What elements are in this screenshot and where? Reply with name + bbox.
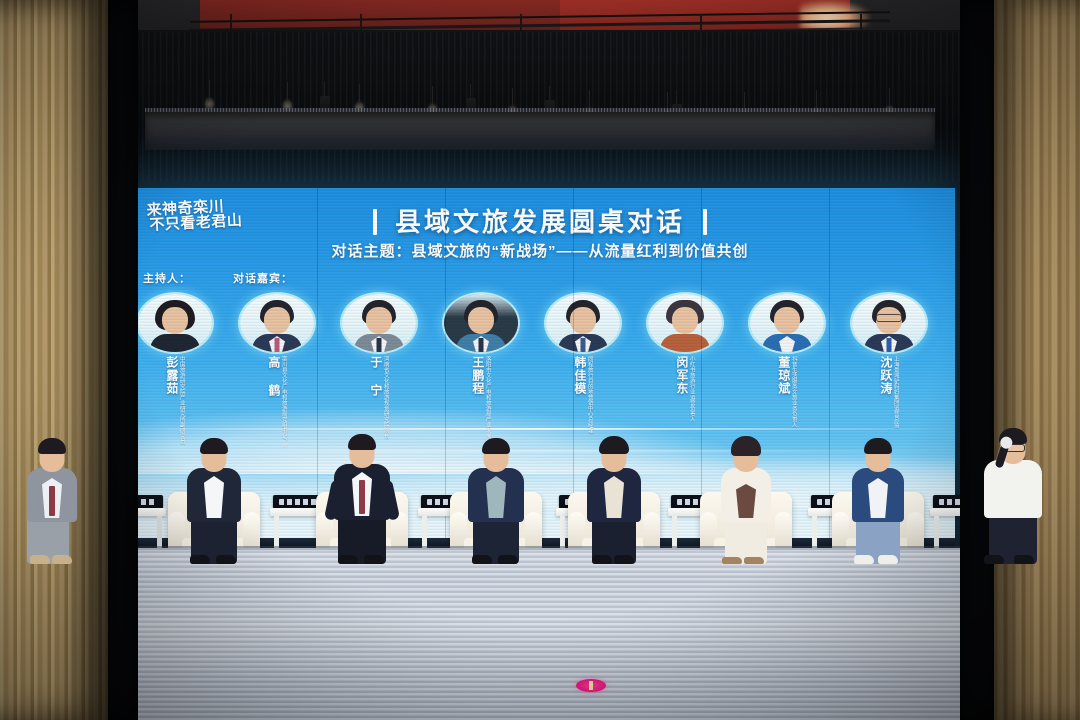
panelist-shoe [878,555,898,564]
speaker-card-5: 韩佳模同程旅行目的地营销中心总经理 [541,294,625,448]
speaker-card-4: 王鹏程洛阳市文化广电和旅游局产业发展科科长 [439,294,523,448]
avatar-tie [377,338,382,352]
speaker-title: 抖音生活服务文旅业务负责人 [790,356,797,428]
speaker-card-2: 高 鹤栾川县文化广电和旅游局党组书记、局长 [235,294,319,448]
panelist-tie [359,480,365,514]
avatar-tie [887,338,892,352]
panelist-hair [348,434,376,450]
avatar [138,294,212,352]
panelist-shoe [744,557,764,564]
panelist-shoe [52,555,72,564]
panelist-shoe [854,555,874,564]
panelist [330,452,394,564]
avatar-face [366,307,392,334]
panelist [182,456,246,564]
led-panel-seam [829,188,830,548]
avatar-tie [581,338,586,352]
stage-drape-left [104,0,138,720]
speaker-name: 沈跃涛 [879,356,892,395]
avatar-face [774,307,800,334]
avatar-face [672,307,698,334]
avatar [546,294,620,352]
avatar [240,294,314,352]
panelist-shirt [486,476,506,518]
speaker-title: 小红书旅游行业运营负责人 [688,356,695,422]
speaker-name: 韩佳模 [573,356,586,395]
page-title: 县域文旅发展圆桌对话 [395,202,685,239]
guest-label: 对话嘉宾： [233,270,293,286]
panelist-hair [200,438,228,454]
backdrop-pleats [100,32,980,182]
speaker-title: 河南省文化和旅游规划研究院院长 [382,356,389,430]
speaker-title: 同程旅行目的地营销中心总经理 [586,356,593,430]
avatar [342,294,416,352]
role-label-row: 主持人： 对话嘉宾： [125,270,955,288]
speaker-title: 上海景域驴妈妈集团运营总监 [892,356,899,428]
avatar-tie [275,338,280,352]
panelist-shoe [30,555,50,564]
name-plate-text [279,499,319,505]
speaker-name: 高 鹤 [267,356,280,397]
stage-curtain-left [0,0,108,720]
avatar-face [468,307,494,334]
panelist-shirt [204,476,224,518]
led-panel-seam [445,188,446,548]
avatar-face [162,307,188,334]
speaker-title: 洛阳市文化广电和旅游局产业发展科科长 [484,356,491,430]
avatar [444,294,518,352]
stage-floor-planks [0,548,1080,720]
avatar-body [660,334,710,352]
speaker-card-8: 沈跃涛上海景域驴妈妈集团运营总监 [847,294,931,448]
title-accent-bar-left [373,209,377,235]
panelist-tie [49,486,55,516]
panelist-shoe [498,555,518,564]
speaker-name: 闵军东 [675,356,688,395]
panelist-hair [38,438,66,454]
avatar [852,294,926,352]
panelist-shoe [614,555,634,564]
panelist-hair [864,438,892,454]
speaker-name: 董琼斌 [777,356,790,395]
avatar-face [264,307,290,334]
floor-position-marker [576,679,606,692]
panelist-shoe [1014,555,1034,564]
stage-floor [0,548,1080,720]
avatar-tie [479,338,484,352]
speaker-title: 栾川县文化广电和旅游局党组书记、局长 [280,356,287,430]
title-accent-bar-right [703,209,707,235]
speaker-card-6: 闵军东小红书旅游行业运营负责人 [643,294,727,448]
panelist-shirt [868,478,888,518]
panelist-shoe [364,555,384,564]
panelist-shoe [722,557,742,564]
screen-title-row: 县域文旅发展圆桌对话 [125,202,955,239]
avatar [750,294,824,352]
screen-subtitle: 对话主题：县域文旅的“新战场”——从流量红利到价值共创 [125,240,955,261]
panelist-shoe [338,555,358,564]
speaker-row: 彭露茹中国旅游研究院产业研究所副研究员 高 鹤栾川县文化广电和旅游局党组书记、局… [125,294,955,454]
panelist-shoe [216,555,236,564]
panelist [464,456,528,564]
avatar [648,294,722,352]
panelist-shirt [736,484,756,518]
panelist-shirt [604,476,624,518]
panelist-shoe [472,555,492,564]
panelist-shoe [190,555,210,564]
stage-curtain-right [994,0,1080,720]
panelist-hair [482,438,510,454]
stage-valance [145,112,935,150]
speaker-card-7: 董琼斌抖音生活服务文旅业务负责人 [745,294,829,448]
speaker-name: 彭露茹 [165,356,178,395]
panelist-shoe [592,555,612,564]
panelist-shoe [984,555,1004,564]
speaker-card-3: 于 宁河南省文化和旅游规划研究院院长 [337,294,421,448]
speaker-card-1: 彭露茹中国旅游研究院产业研究所副研究员 [133,294,217,448]
stage-photo: 来神奇栾川 不只看老君山 县域文旅发展圆桌对话 对话主题：县域文旅的“新战场”—… [0,0,1080,720]
host-label: 主持人： [143,270,191,286]
avatar-body [150,334,200,352]
panelist-hair [731,436,761,456]
panelist-torso [984,460,1042,518]
speaker-name: 王鹏程 [471,356,484,395]
speaker-title: 中国旅游研究院产业研究所副研究员 [178,356,185,430]
speaker-name: 于 宁 [369,356,382,397]
glasses-icon [876,314,902,322]
